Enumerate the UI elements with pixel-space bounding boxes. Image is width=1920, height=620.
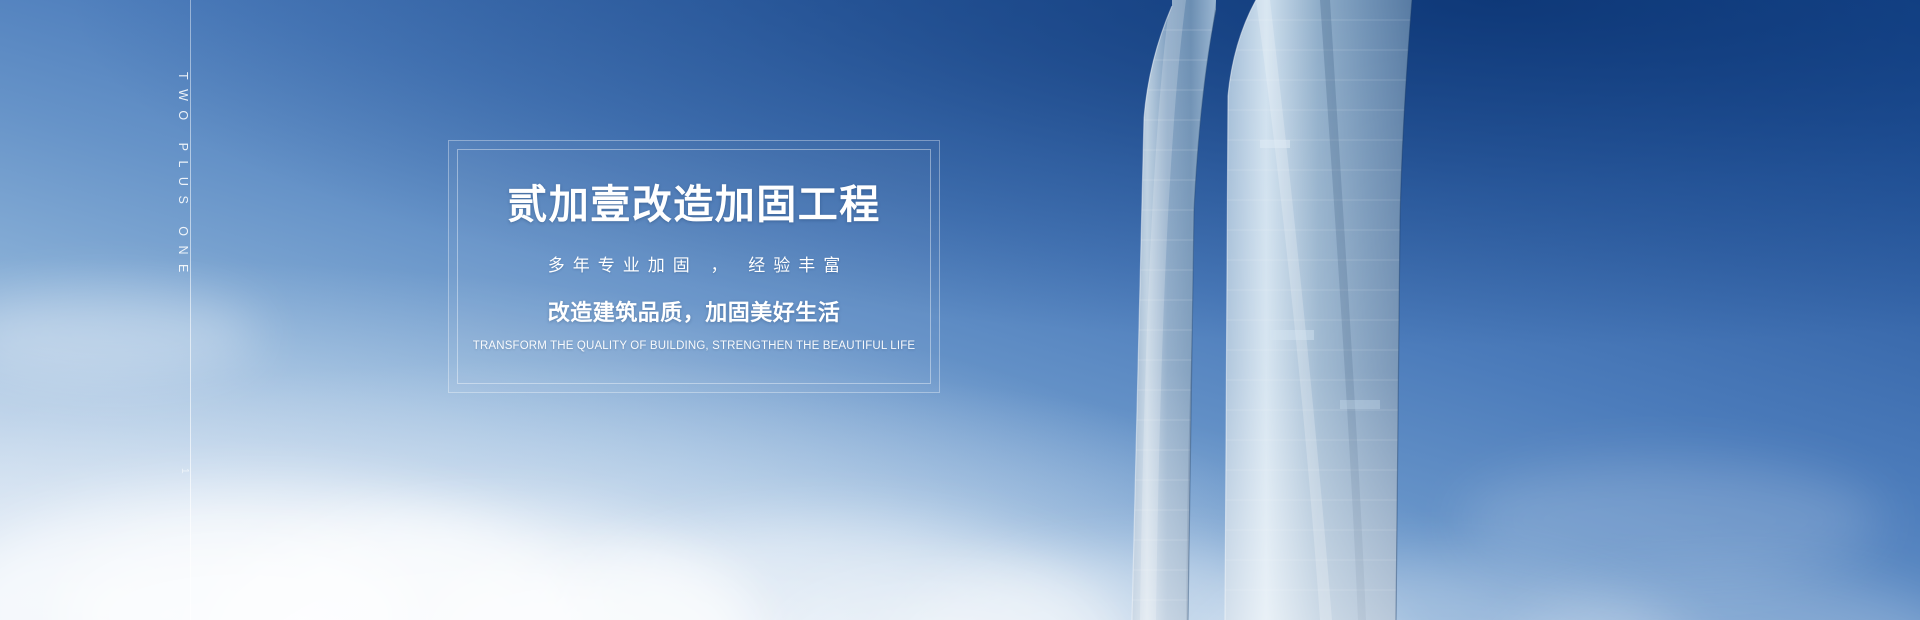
curved-glass-tower-left: [1120, 0, 1240, 620]
cloud-bank: [0, 320, 1920, 620]
hero-slogan: 改造建筑品质，加固美好生活: [548, 302, 841, 324]
hero-tagline-english: TRANSFORM THE QUALITY OF BUILDING, STREN…: [473, 341, 915, 353]
hero-text-panel: 贰加壹改造加固工程 多年专业加固 ， 经验丰富 改造建筑品质，加固美好生活 TR…: [448, 140, 940, 393]
left-vertical-divider: [190, 0, 191, 620]
hero-subtitle: 多年专业加固 ， 经验丰富: [540, 257, 848, 274]
hero-banner: TWO PLUS ONE 1 贰加壹改造加固工程 多年专业加固 ， 经验丰富 改…: [0, 0, 1920, 620]
buildings-group: [1020, 0, 1450, 620]
brand-vertical-mark: 1: [179, 468, 190, 477]
hero-title: 贰加壹改造加固工程: [507, 185, 881, 225]
brand-vertical-text: TWO PLUS ONE: [176, 72, 190, 282]
curved-glass-tower-right: [1215, 0, 1425, 620]
hero-text-stack: 贰加壹改造加固工程 多年专业加固 ， 经验丰富 改造建筑品质，加固美好生活 TR…: [449, 141, 939, 392]
